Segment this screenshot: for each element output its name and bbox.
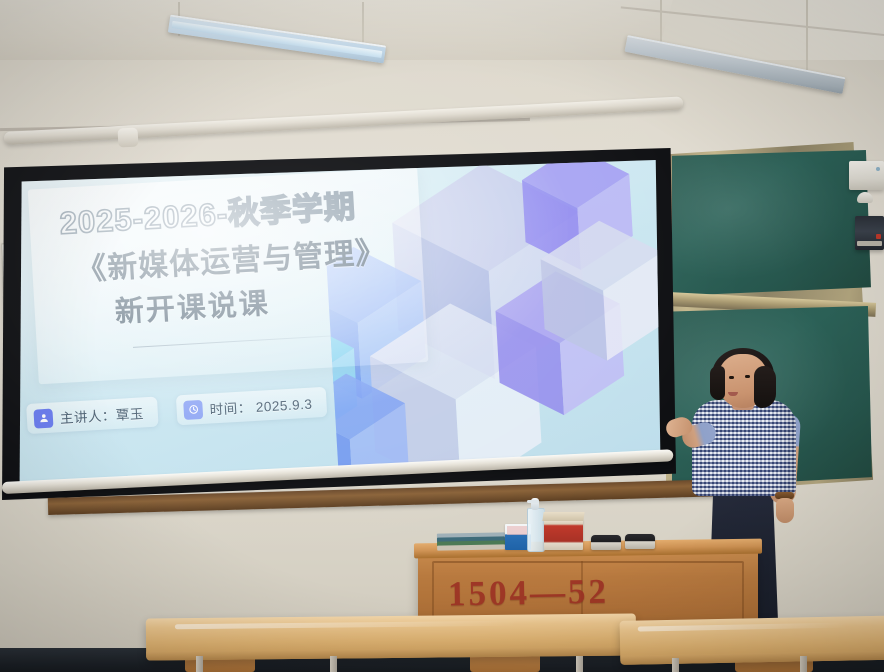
desk-highlight (175, 621, 518, 630)
presenter-hair-left (710, 366, 725, 400)
desk-leg (672, 658, 679, 672)
ac-unit (849, 161, 884, 190)
presenter-top (692, 400, 796, 496)
podium-marker-text: 1504—52 (448, 572, 610, 615)
classroom-scene: 2025-2026-秋季学期 《新媒体运营与管理》 新开课说课 主讲人：覃玉 (0, 0, 884, 672)
control-panel-led (876, 234, 881, 239)
board-eraser-left (591, 535, 621, 550)
desk-leg (576, 656, 583, 672)
control-panel-strip (857, 241, 882, 246)
desk-leg (196, 656, 203, 672)
desk-leg (800, 656, 807, 672)
tissue-box-top (507, 526, 529, 535)
motion-sensor-icon (857, 192, 873, 203)
eye-left (729, 376, 734, 379)
sanitizer-nozzle (527, 500, 539, 503)
blackboard-panel-top (672, 150, 874, 296)
screen-roller-cap (118, 127, 139, 147)
desk-highlight (638, 623, 848, 632)
book-stack (437, 532, 505, 550)
red-carton (544, 519, 583, 550)
board-eraser-right (625, 534, 655, 549)
projector-screen[interactable]: 2025-2026-秋季学期 《新媒体运营与管理》 新开课说课 主讲人：覃玉 (0, 148, 676, 500)
student-desk-left (146, 613, 636, 660)
desk-leg (330, 656, 337, 672)
presenter-right-hand (776, 498, 794, 523)
control-panel[interactable] (855, 216, 884, 250)
student-desk-right (620, 615, 884, 665)
eye-right (745, 375, 750, 378)
projector-hotspot (0, 148, 568, 423)
ac-indicator-icon (876, 167, 880, 171)
red-carton-flap (542, 512, 584, 521)
presenter-hair-right (754, 366, 776, 408)
blackboard-sheen (672, 150, 874, 296)
lamp-rod-b (362, 2, 364, 42)
